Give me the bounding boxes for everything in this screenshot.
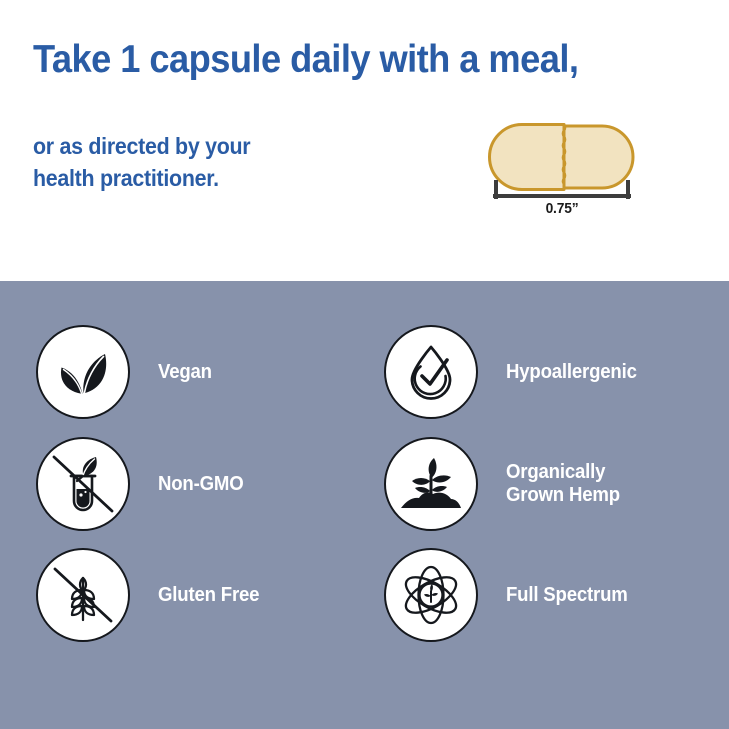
badge-label: Vegan [158,361,212,384]
droplet-check-icon [400,341,462,403]
badge-hypoallergenic[interactable]: Hypoallergenic [384,325,647,419]
infographic-page: Take 1 capsule daily with a meal, or as … [0,0,729,729]
badge-icon-frame [36,325,130,419]
badge-icon-frame [36,437,130,531]
badge-icon-frame [384,548,478,642]
directions-subtitle-line-1: or as directed by your [33,130,340,162]
directions-subtitle: or as directed by your health practition… [33,130,340,194]
badge-organically-grown-hemp[interactable]: Organically Grown Hemp [384,437,628,531]
badge-label: Full Spectrum [506,584,628,607]
capsule-illustration-group: 0.75” [486,122,646,232]
badge-icon-frame [384,325,478,419]
badge-full-spectrum[interactable]: Full Spectrum [384,548,637,642]
capsule-measurement-label: 0.75” [492,200,632,217]
badge-label: Non-GMO [158,473,243,496]
badge-label: Gluten Free [158,584,259,607]
directions-subtitle-line-2: health practitioner. [33,162,340,194]
badge-icon-frame [36,548,130,642]
badge-icon-frame [384,437,478,531]
two-leaves-icon [52,341,114,403]
badge-label: Organically Grown Hemp [506,461,620,507]
badge-non-gmo[interactable]: Non-GMO [36,437,250,531]
directions-panel: Take 1 capsule daily with a meal, or as … [0,0,729,281]
certification-badges-panel: Vegan [0,281,729,729]
badge-gluten-free[interactable]: Gluten Free [36,548,267,642]
no-test-tube-leaf-icon [50,451,116,517]
page-title: Take 1 capsule daily with a meal, [33,38,665,82]
no-wheat-icon [50,562,116,628]
badge-label: Hypoallergenic [506,361,637,384]
atom-leaf-icon [397,561,465,629]
seedling-soil-icon [397,450,465,518]
capsule-dimension-bar [486,180,638,202]
badge-vegan[interactable]: Vegan [36,325,216,419]
